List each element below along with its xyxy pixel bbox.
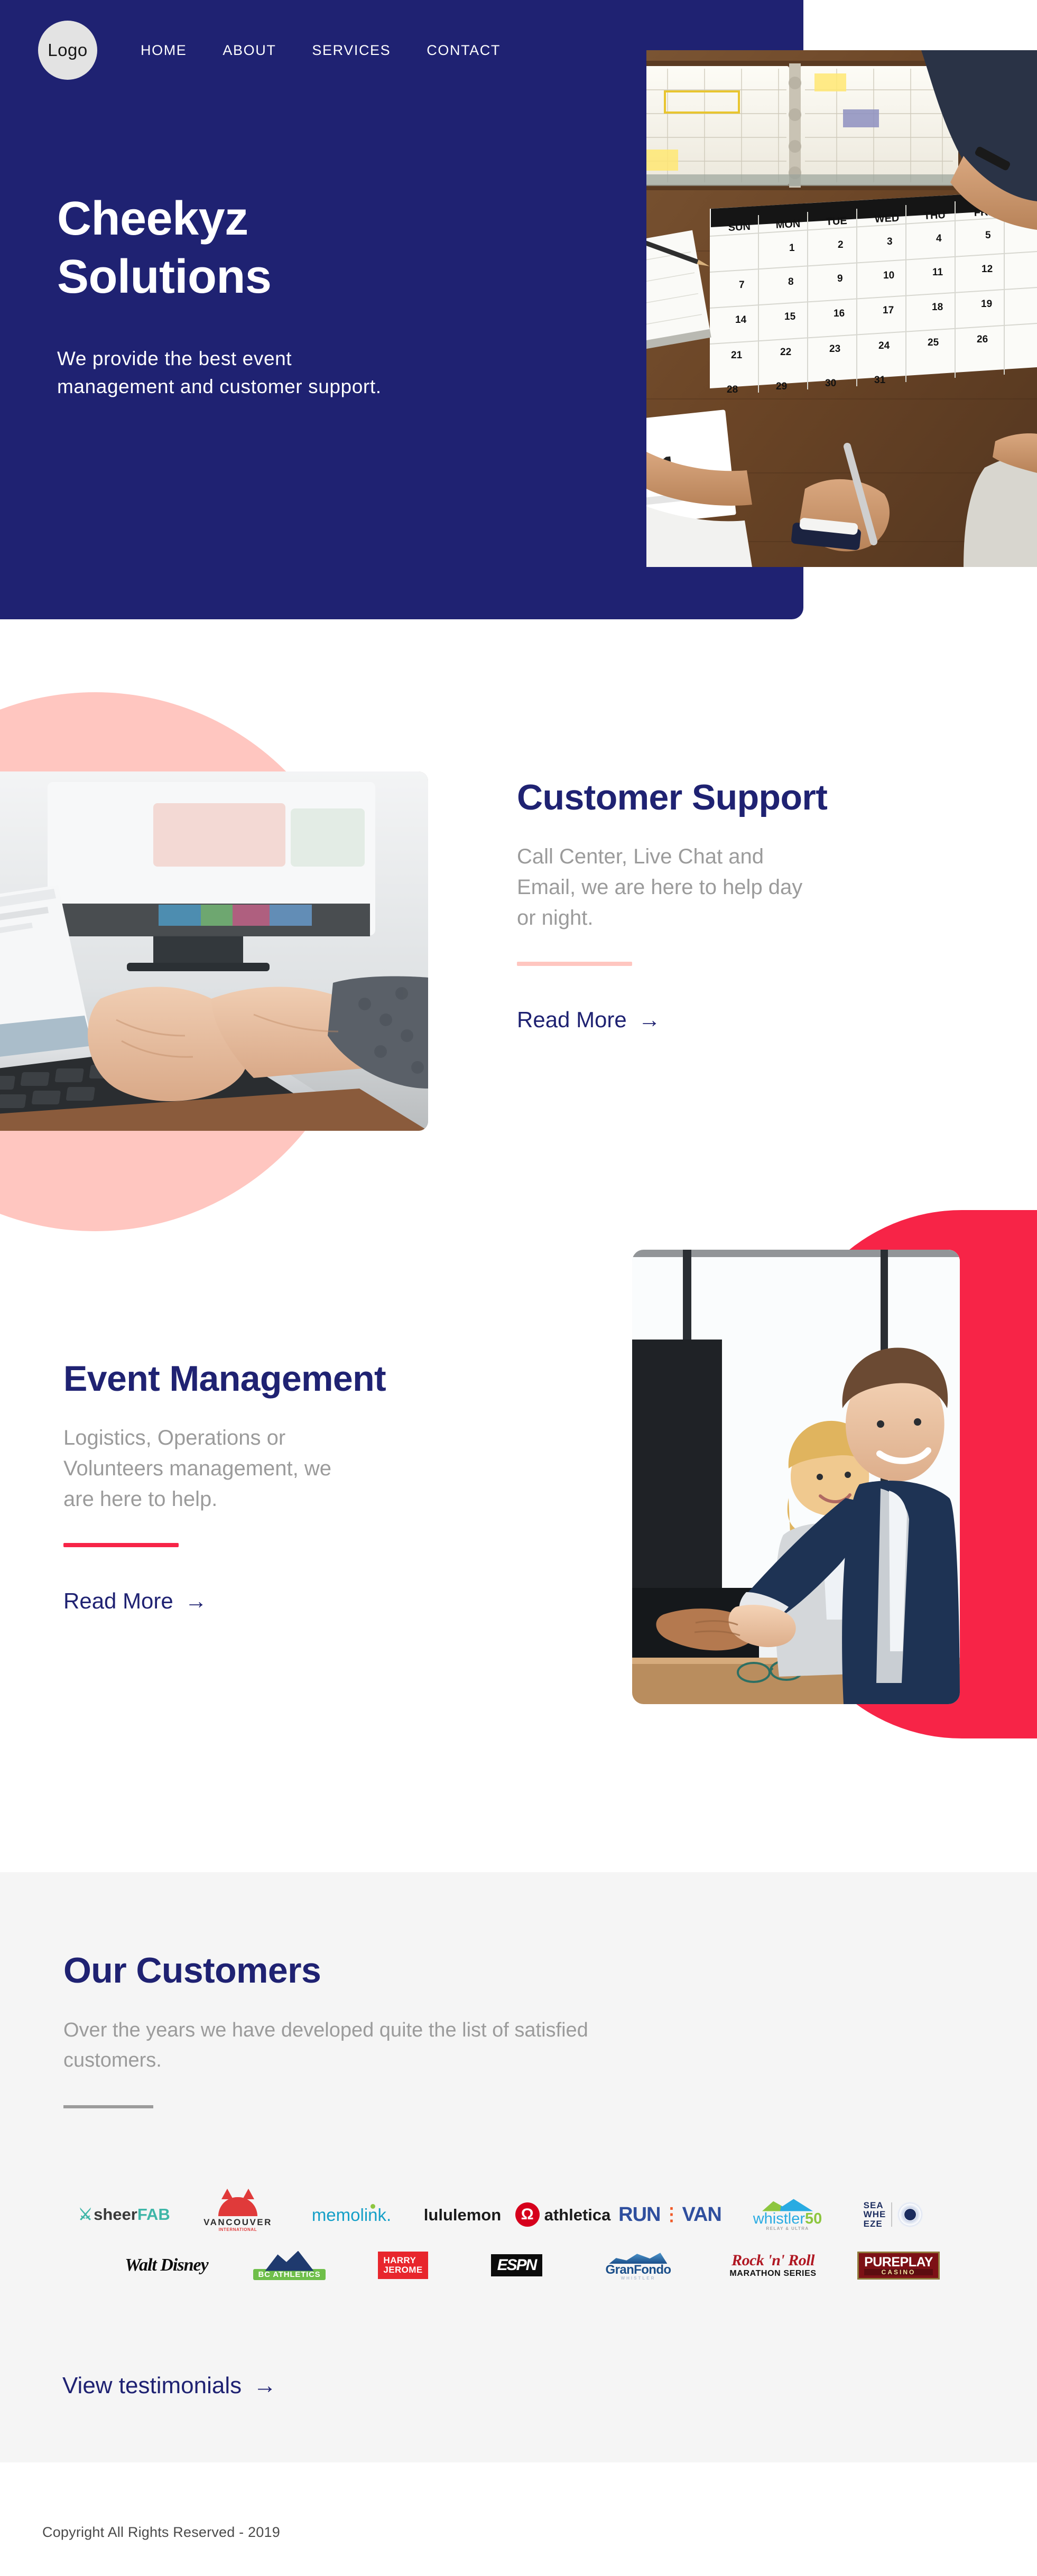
svg-text:14: 14 (735, 314, 747, 326)
svg-text:10: 10 (883, 270, 894, 281)
svg-text:23: 23 (829, 343, 840, 355)
customer-logo-espn: ESPN (460, 2245, 573, 2286)
svg-text:7: 7 (739, 280, 745, 291)
svg-text:22: 22 (780, 347, 791, 358)
customer-logo-seawheeze: SEA WHE EZE (848, 2194, 938, 2235)
nav-links: HOME ABOUT SERVICES CONTACT (141, 42, 501, 59)
svg-text:25: 25 (928, 337, 939, 348)
arrow-right-icon: → (253, 2373, 276, 2399)
svg-text:15: 15 (784, 311, 796, 322)
customer-logo-row-2: Walt Disney BC ATHLETICS HARRY JEROME ES… (63, 2243, 962, 2288)
svg-text:1: 1 (789, 243, 795, 254)
svg-text:21: 21 (731, 350, 743, 361)
svg-text:THU: THU (923, 209, 946, 222)
customer-support-title: Customer Support (517, 777, 993, 818)
event-management-title: Event Management (63, 1358, 539, 1399)
event-management-block: Event Management Logistics, Operations o… (63, 1358, 539, 1614)
customer-logo-pureplay-casino: PUREPLAY CASINO (843, 2245, 954, 2286)
event-management-image (632, 1250, 960, 1704)
customer-logo-lululemon: lululemon (412, 2194, 513, 2235)
customer-logo-bc-athletics: BC ATHLETICS (233, 2245, 346, 2286)
nav-item-about[interactable]: ABOUT (223, 42, 276, 59)
wave-icon (609, 2250, 667, 2264)
read-more-label: Read More (517, 1007, 627, 1033)
svg-text:8: 8 (788, 276, 794, 287)
customer-support-body: Call Center, Live Chat and Email, we are… (517, 841, 993, 933)
customer-logo-whistler50: whistler50 RELAY & ULTRA (727, 2194, 848, 2235)
svg-text:9: 9 (837, 273, 843, 284)
customer-logo-memolink: memolink. (291, 2194, 412, 2235)
customer-logo-rock-n-roll: Rock 'n' Roll MARATHON SERIES (703, 2245, 843, 2286)
customer-support-block: Customer Support Call Center, Live Chat … (517, 777, 993, 1033)
dot-icon (371, 2204, 375, 2209)
copyright-text: Copyright All Rights Reserved - 2019 (42, 2524, 280, 2541)
lululemon-mark-icon: Ω (515, 2202, 540, 2227)
nav-item-home[interactable]: HOME (141, 42, 187, 59)
divider-dots-icon: ⋮ (662, 2206, 680, 2224)
customer-logo-grid: ⚔sheerFAB VANCOUVER INTERNATIONAL memoli… (63, 2192, 962, 2288)
nav-item-contact[interactable]: CONTACT (427, 42, 501, 59)
event-management-divider (63, 1543, 179, 1547)
svg-text:5: 5 (985, 230, 991, 241)
view-testimonials-link[interactable]: View testimonials → (62, 2373, 276, 2399)
our-customers-divider (63, 2105, 153, 2108)
hero-copy: Cheekyz Solutions We provide the best ev… (57, 190, 638, 401)
svg-text:MON: MON (775, 218, 801, 231)
hero-subtitle: We provide the best event management and… (57, 345, 617, 401)
sun-icon (218, 2197, 257, 2216)
read-more-label: Read More (63, 1588, 173, 1614)
svg-text:16: 16 (834, 308, 845, 319)
person-icon: ⚔ (78, 2206, 92, 2224)
customer-logo-athletica: Ω athletica (513, 2194, 613, 2235)
footer (0, 2462, 1037, 2576)
svg-text:11: 11 (932, 267, 943, 278)
customer-support-read-more-link[interactable]: Read More → (517, 1007, 661, 1033)
landing-page: SUN MON TUE WED THU FRI SAT 123 45 (0, 0, 1037, 2576)
customer-logo-granfondo: GranFondo WHISTLER (573, 2245, 703, 2286)
customer-logo-runvan: RUN ⋮ VAN (613, 2194, 727, 2235)
svg-text:28: 28 (727, 384, 738, 395)
our-customers-title: Our Customers (63, 1950, 920, 1991)
main-navigation: Logo HOME ABOUT SERVICES CONTACT (0, 0, 803, 100)
hero-section: SUN MON TUE WED THU FRI SAT 123 45 (0, 0, 1037, 624)
svg-text:12: 12 (982, 264, 993, 275)
customer-logo-row-1: ⚔sheerFAB VANCOUVER INTERNATIONAL memoli… (63, 2192, 962, 2237)
our-customers-subtitle: Over the years we have developed quite t… (63, 2015, 888, 2076)
svg-text:18: 18 (932, 302, 943, 313)
svg-text:30: 30 (825, 378, 836, 389)
customer-support-image (0, 771, 428, 1131)
hero-title: Cheekyz Solutions (57, 190, 638, 306)
svg-text:SUN: SUN (728, 221, 751, 234)
svg-text:TUE: TUE (826, 215, 847, 228)
seal-icon (897, 2202, 923, 2227)
view-testimonials-label: View testimonials (62, 2373, 242, 2399)
svg-text:WED: WED (874, 212, 900, 225)
mountain-icon (762, 2199, 813, 2211)
svg-text:29: 29 (776, 381, 787, 392)
svg-text:2: 2 (838, 239, 844, 250)
svg-text:31: 31 (874, 375, 886, 386)
svg-text:4: 4 (936, 233, 942, 244)
customer-logo-walt-disney: Walt Disney (100, 2245, 233, 2286)
nav-item-services[interactable]: SERVICES (312, 42, 391, 59)
our-customers-header: Our Customers Over the years we have dev… (63, 1950, 920, 2108)
svg-text:26: 26 (977, 334, 988, 345)
svg-text:17: 17 (883, 305, 894, 316)
vertical-divider (891, 2202, 892, 2227)
customer-logo-sheerfab: ⚔sheerFAB (63, 2194, 185, 2235)
arrow-right-icon: → (638, 1009, 661, 1031)
arrow-right-icon: → (185, 1590, 207, 1612)
svg-text:24: 24 (878, 340, 890, 351)
logo[interactable]: Logo (38, 21, 97, 80)
svg-text:19: 19 (981, 299, 992, 310)
event-management-body: Logistics, Operations or Volunteers mana… (63, 1422, 539, 1514)
customer-logo-vancouver: VANCOUVER INTERNATIONAL (185, 2194, 291, 2235)
mountain-icon (265, 2251, 314, 2271)
event-management-read-more-link[interactable]: Read More → (63, 1588, 207, 1614)
hero-image: SUN MON TUE WED THU FRI SAT 123 45 (646, 50, 1037, 567)
svg-text:3: 3 (887, 236, 893, 247)
customer-logo-harry-jerome: HARRY JEROME (346, 2245, 460, 2286)
customer-support-divider (517, 962, 632, 966)
